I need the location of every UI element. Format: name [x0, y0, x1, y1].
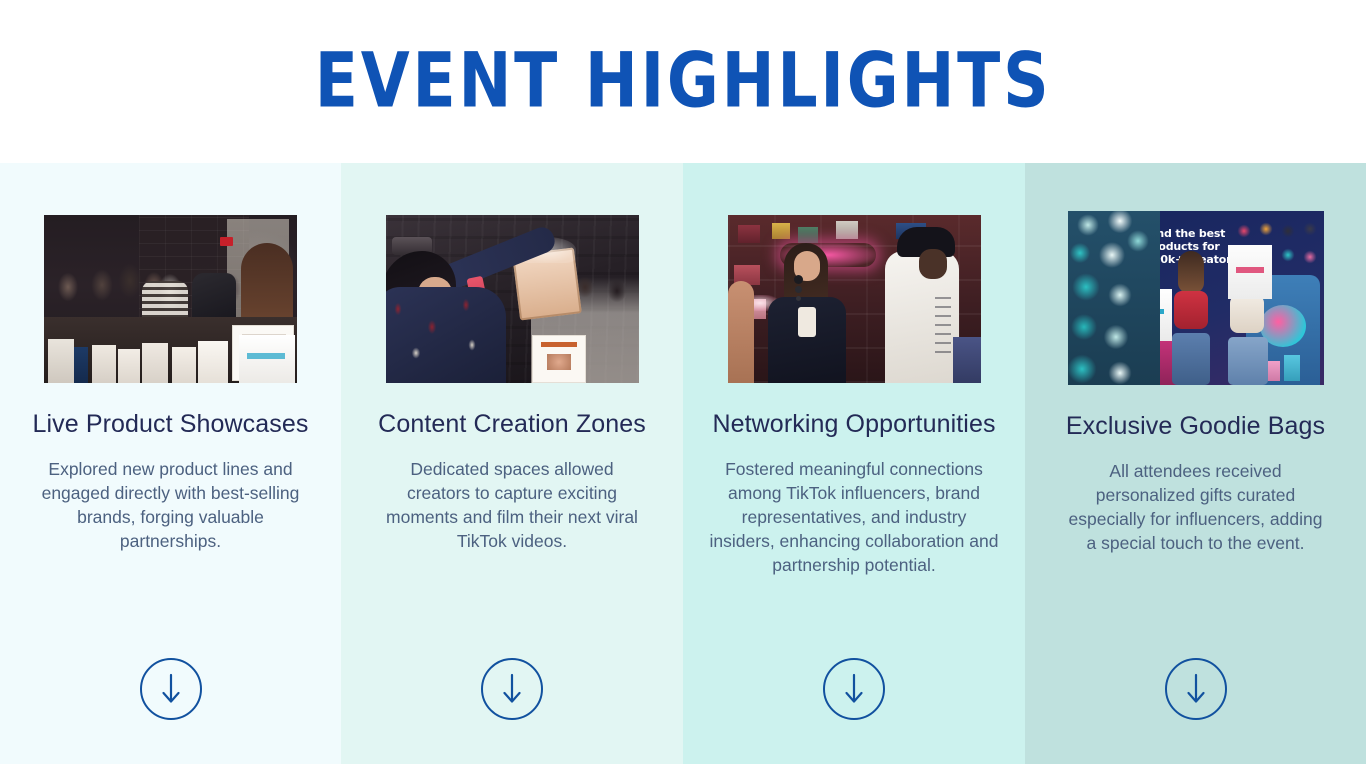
arrow-down-icon — [497, 672, 527, 706]
highlight-columns: Live Product Showcases Explored new prod… — [0, 163, 1366, 764]
arrow-down-button[interactable] — [1165, 658, 1227, 720]
card-arrow-wrap — [683, 658, 1025, 720]
bottom-strip — [0, 764, 1366, 768]
card-heading: Networking Opportunities — [702, 409, 1005, 439]
page-title: EVENT HIGHLIGHTS — [315, 43, 1052, 119]
arrow-down-icon — [156, 672, 186, 706]
arrow-down-button[interactable] — [481, 658, 543, 720]
card-photo-content-creation-zones — [386, 215, 639, 383]
card-arrow-wrap — [341, 658, 683, 720]
highlight-card-exclusive-goodie-bags[interactable]: Find the best products for 400k+ creator… — [1025, 163, 1366, 764]
card-photo-live-product-showcases — [44, 215, 297, 383]
card-description: Fostered meaningful connections among Ti… — [709, 457, 999, 577]
card-heading: Exclusive Goodie Bags — [1056, 411, 1335, 441]
arrow-down-button[interactable] — [140, 658, 202, 720]
card-description: All attendees received personalized gift… — [1065, 459, 1327, 555]
arrow-down-icon — [839, 672, 869, 706]
highlight-card-networking-opportunities[interactable]: Networking Opportunities Fostered meanin… — [683, 163, 1025, 764]
card-arrow-wrap — [0, 658, 341, 720]
card-photo-networking-opportunities — [728, 215, 981, 383]
arrow-down-button[interactable] — [823, 658, 885, 720]
slide-root: EVENT HIGHLIGHTS Live Product Showcases … — [0, 0, 1366, 768]
card-heading: Live Product Showcases — [23, 409, 319, 439]
card-description: Explored new product lines and engaged d… — [37, 457, 305, 553]
title-area: EVENT HIGHLIGHTS — [0, 0, 1366, 163]
card-photo-exclusive-goodie-bags: Find the best products for 400k+ creator… — [1068, 211, 1324, 385]
card-description: Dedicated spaces allowed creators to cap… — [378, 457, 646, 553]
card-heading: Content Creation Zones — [368, 409, 656, 439]
highlight-card-live-product-showcases[interactable]: Live Product Showcases Explored new prod… — [0, 163, 341, 764]
arrow-down-icon — [1181, 672, 1211, 706]
highlight-card-content-creation-zones[interactable]: Content Creation Zones Dedicated spaces … — [341, 163, 683, 764]
card-arrow-wrap — [1025, 658, 1366, 720]
